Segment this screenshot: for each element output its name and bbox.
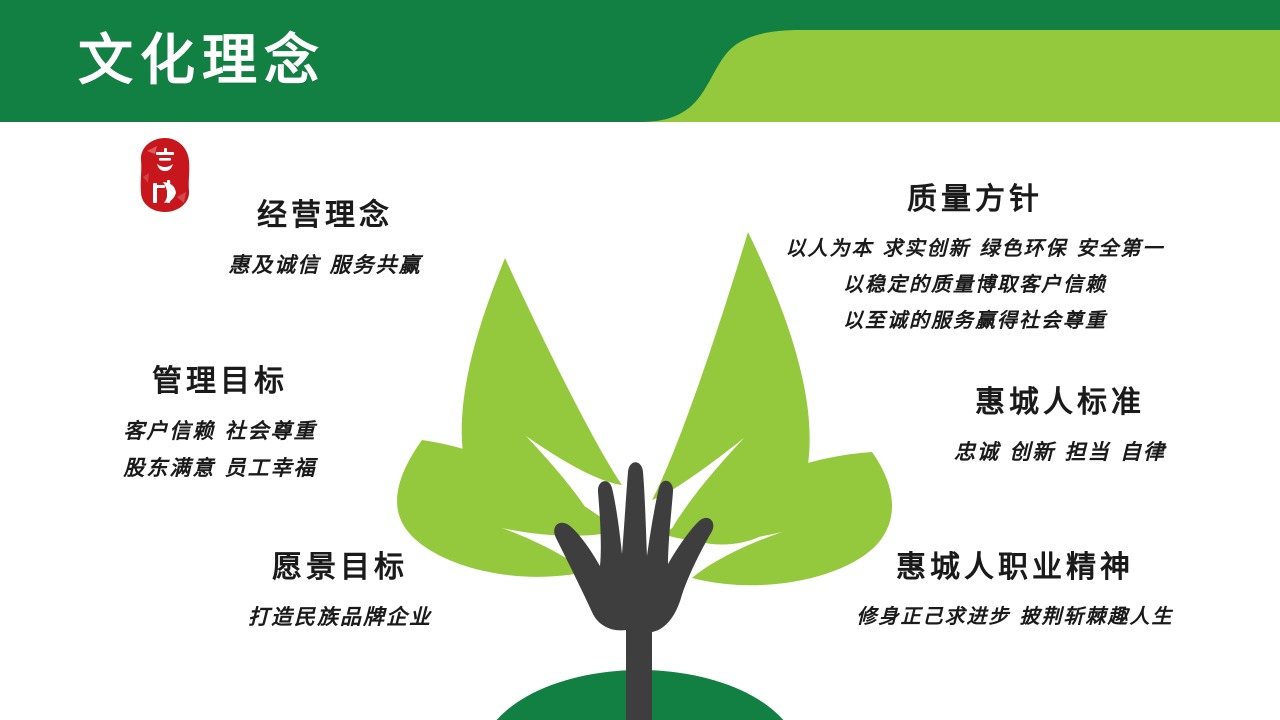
block-body: 以人为本 求实创新 绿色环保 安全第一 以稳定的质量博取客户信赖 以至诚的服务赢… [760, 230, 1190, 338]
block-management-philosophy: 经营理念 惠及诚信 服务共赢 [160, 196, 490, 283]
block-heading: 愿景目标 [175, 548, 505, 588]
block-vision-goal: 愿景目标 打造民族品牌企业 [175, 548, 505, 635]
header-banner: 文化理念 [0, 0, 1280, 122]
slide-canvas: 文化理念 [0, 0, 1280, 720]
block-body: 惠及诚信 服务共赢 [160, 246, 490, 283]
block-line: 股东满意 员工幸福 [55, 449, 385, 486]
block-line: 惠及诚信 服务共赢 [160, 246, 490, 283]
block-quality-policy: 质量方针 以人为本 求实创新 绿色环保 安全第一 以稳定的质量博取客户信赖 以至… [760, 180, 1190, 338]
block-line: 打造民族品牌企业 [175, 598, 505, 635]
block-heading: 惠城人职业精神 [795, 548, 1235, 588]
block-line: 忠诚 创新 担当 自律 [885, 433, 1235, 470]
block-line: 以稳定的质量博取客户信赖 [760, 266, 1190, 302]
block-heading: 经营理念 [160, 196, 490, 236]
block-line: 客户信赖 社会尊重 [55, 412, 385, 449]
block-body: 忠诚 创新 担当 自律 [885, 433, 1235, 470]
hand-trunk [554, 462, 713, 720]
page-title: 文化理念 [78, 30, 326, 90]
block-heading: 管理目标 [55, 362, 385, 402]
block-body: 客户信赖 社会尊重 股东满意 员工幸福 [55, 412, 385, 486]
leaf-upper-left [462, 258, 622, 530]
block-heading: 质量方针 [760, 180, 1190, 220]
block-huicheng-standard: 惠城人标准 忠诚 创新 担当 自律 [885, 383, 1235, 470]
block-body: 修身正己求进步 披荆斩棘趣人生 [795, 598, 1235, 635]
block-huicheng-spirit: 惠城人职业精神 修身正己求进步 披荆斩棘趣人生 [795, 548, 1235, 635]
block-line: 以人为本 求实创新 绿色环保 安全第一 [760, 230, 1190, 266]
block-body: 打造民族品牌企业 [175, 598, 505, 635]
block-management-goal: 管理目标 客户信赖 社会尊重 股东满意 员工幸福 [55, 362, 385, 486]
block-line: 以至诚的服务赢得社会尊重 [760, 302, 1190, 338]
block-line: 修身正己求进步 披荆斩棘趣人生 [795, 598, 1235, 635]
ground-mound [480, 670, 800, 720]
block-heading: 惠城人标准 [885, 383, 1235, 423]
